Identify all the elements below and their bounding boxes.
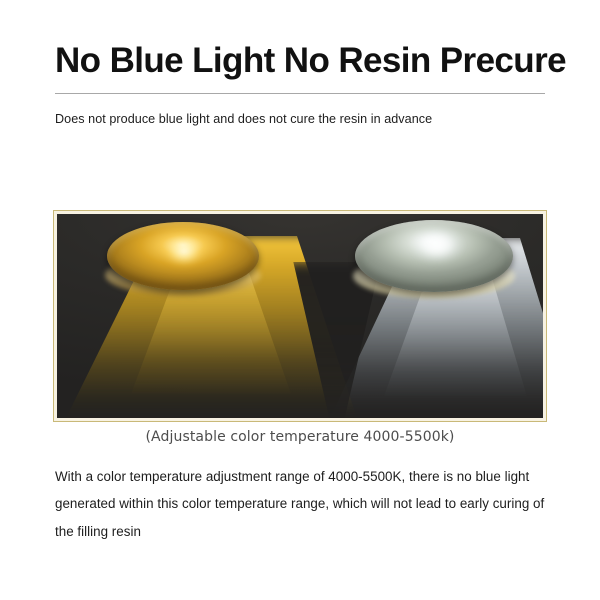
photo-caption: (Adjustable color temperature 4000-5500k… xyxy=(54,429,546,445)
cool-lens-hotspot xyxy=(409,226,465,264)
page-title: No Blue Light No Resin Precure xyxy=(55,40,545,81)
header: No Blue Light No Resin Precure Does not … xyxy=(55,40,545,128)
warm-lens-hotspot xyxy=(161,234,207,268)
body-paragraph: With a color temperature adjustment rang… xyxy=(55,463,545,545)
title-divider xyxy=(55,93,545,94)
product-feature-panel: No Blue Light No Resin Precure Does not … xyxy=(0,0,600,600)
product-photo xyxy=(57,214,543,418)
subtitle: Does not produce blue light and does not… xyxy=(55,111,545,127)
product-photo-frame xyxy=(54,211,546,421)
